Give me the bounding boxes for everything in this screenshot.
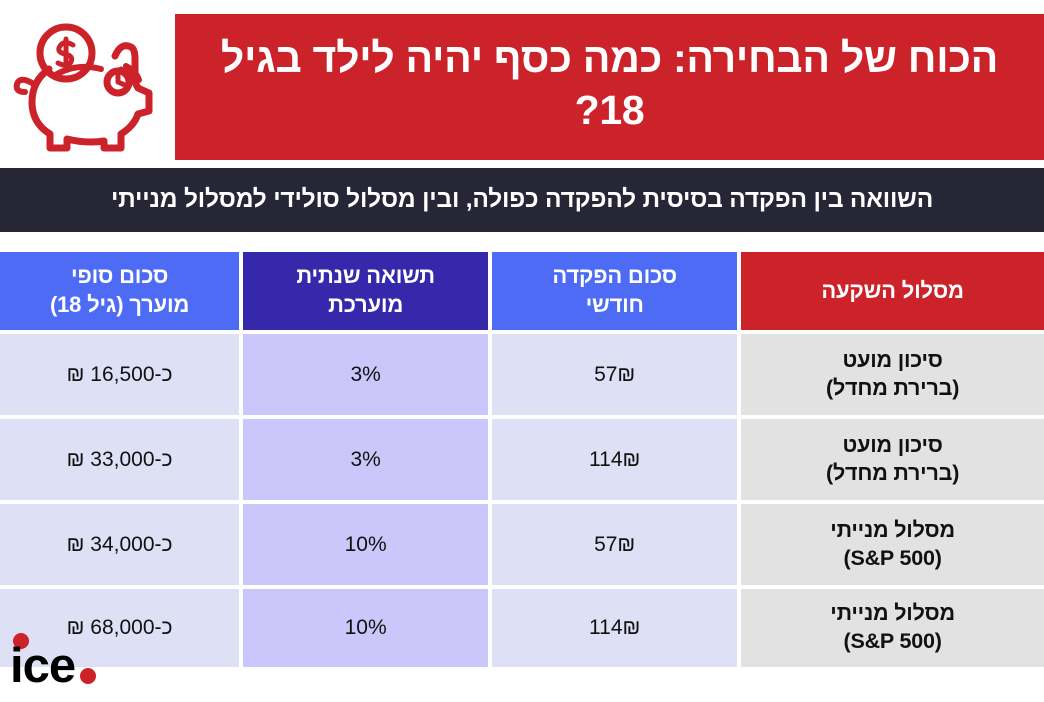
cell-monthly-deposit: 57₪ — [492, 334, 737, 415]
table-row: סיכון מועט (ברירת מחדל) 114₪ 3% כ-33,000… — [0, 419, 1044, 500]
annual-yield-value: 3% — [350, 361, 380, 388]
subtitle-text: השוואה בין הפקדה בסיסית להפקדה כפולה, וב… — [111, 186, 933, 214]
table-row: מסלול מנייתי (S&P 500) 57₪ 10% כ-34,000 … — [0, 504, 1044, 585]
cell-final-amount: כ-16,500 ₪ — [0, 334, 239, 415]
column-header-label-line1: סכום הפקדה — [552, 262, 677, 291]
track-name-line1: מסלול מנייתי — [830, 600, 955, 628]
cell-investment-track: סיכון מועט (ברירת מחדל) — [741, 419, 1044, 500]
monthly-deposit-value: 57₪ — [594, 531, 635, 558]
annual-yield-value: 3% — [350, 446, 380, 473]
cell-monthly-deposit: 57₪ — [492, 504, 737, 585]
column-header-final-amount: סכום סופי מוערך (גיל 18) — [0, 252, 239, 330]
cell-investment-track: מסלול מנייתי (S&P 500) — [741, 589, 1044, 667]
logo-period-icon — [80, 668, 96, 684]
cell-annual-yield: 3% — [243, 419, 488, 500]
piggy-bank-icon — [0, 14, 175, 160]
table-row: מסלול מנייתי (S&P 500) 114₪ 10% כ-68,000… — [0, 589, 1044, 667]
annual-yield-value: 10% — [345, 531, 387, 558]
subtitle-band: השוואה בין הפקדה בסיסית להפקדה כפולה, וב… — [0, 168, 1044, 232]
table-header-row: מסלול השקעה סכום הפקדה חודשי תשואה שנתית… — [0, 252, 1044, 330]
cell-investment-track: מסלול מנייתי (S&P 500) — [741, 504, 1044, 585]
final-amount-value: כ-33,000 ₪ — [67, 446, 173, 473]
track-name-line1: סיכון מועט — [843, 432, 943, 460]
cell-monthly-deposit: 114₪ — [492, 419, 737, 500]
page-title: הכוח של הבחירה: כמה כסף יהיה לילד בגיל 1… — [201, 32, 1018, 137]
cell-final-amount: כ-33,000 ₪ — [0, 419, 239, 500]
annual-yield-value: 10% — [345, 614, 387, 641]
column-header-label: מסלול השקעה — [821, 277, 963, 306]
column-header-label-line2: חודשי — [586, 291, 644, 320]
monthly-deposit-value: 114₪ — [589, 614, 640, 641]
monthly-deposit-value: 57₪ — [594, 361, 635, 388]
table-row: סיכון מועט (ברירת מחדל) 57₪ 3% כ-16,500 … — [0, 334, 1044, 415]
cell-annual-yield: 3% — [243, 334, 488, 415]
column-header-investment-track: מסלול השקעה — [741, 252, 1044, 330]
track-name-line1: סיכון מועט — [843, 347, 943, 375]
title-box: הכוח של הבחירה: כמה כסף יהיה לילד בגיל 1… — [175, 14, 1044, 160]
final-amount-value: כ-16,500 ₪ — [67, 361, 173, 388]
track-name-line2: (S&P 500) — [844, 545, 942, 573]
column-header-monthly-deposit: סכום הפקדה חודשי — [492, 252, 737, 330]
ice-logo: ice — [8, 632, 118, 690]
cell-monthly-deposit: 114₪ — [492, 589, 737, 667]
monthly-deposit-value: 114₪ — [589, 446, 640, 473]
track-name-line2: (S&P 500) — [844, 628, 942, 656]
cell-final-amount: כ-34,000 ₪ — [0, 504, 239, 585]
cell-annual-yield: 10% — [243, 504, 488, 585]
track-name-line2: (ברירת מחדל) — [826, 375, 959, 403]
column-header-label-line2: מוערכת — [328, 291, 403, 320]
cell-annual-yield: 10% — [243, 589, 488, 667]
column-header-label-line2: מוערך (גיל 18) — [50, 291, 189, 320]
track-name-line1: מסלול מנייתי — [830, 517, 955, 545]
infographic-page: הכוח של הבחירה: כמה כסף יהיה לילד בגיל 1… — [0, 0, 1044, 702]
header-band: הכוח של הבחירה: כמה כסף יהיה לילד בגיל 1… — [0, 14, 1044, 160]
cell-investment-track: סיכון מועט (ברירת מחדל) — [741, 334, 1044, 415]
track-name-line2: (ברירת מחדל) — [826, 460, 959, 488]
final-amount-value: כ-34,000 ₪ — [67, 531, 173, 558]
comparison-table: מסלול השקעה סכום הפקדה חודשי תשואה שנתית… — [0, 252, 1044, 667]
column-header-label-line1: תשואה שנתית — [296, 262, 434, 291]
column-header-annual-yield: תשואה שנתית מוערכת — [243, 252, 488, 330]
svg-text:ice: ice — [10, 639, 75, 690]
column-header-label-line1: סכום סופי — [71, 262, 168, 291]
